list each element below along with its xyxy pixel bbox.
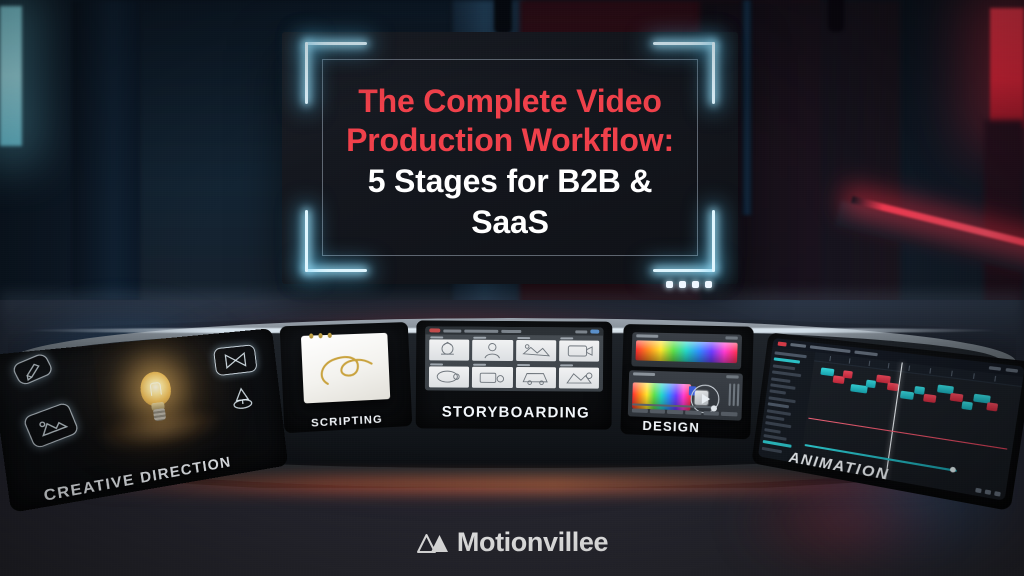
indicator-dot	[679, 281, 686, 288]
preview-card[interactable]	[628, 370, 743, 420]
stage-label-storyboarding: STORYBOARDING	[442, 403, 590, 421]
storyboard-frame[interactable]	[559, 364, 599, 388]
storyboard-app	[425, 326, 603, 391]
keyframe-block[interactable]	[865, 380, 876, 389]
left-light-panel	[0, 6, 22, 146]
title-line-2: Production Workflow:	[336, 121, 684, 160]
keyframe-block[interactable]	[900, 391, 913, 400]
indicator-dot	[666, 281, 673, 288]
keyframe-block[interactable]	[843, 370, 854, 379]
motionvillee-mark-icon	[416, 531, 450, 555]
slider-group[interactable]	[728, 383, 739, 406]
storyboard-grid	[429, 336, 599, 388]
storyboard-frame[interactable]	[472, 364, 512, 388]
notepad-rings	[309, 333, 332, 339]
title-line-3: 5 Stages for B2B &	[336, 162, 684, 201]
notepad	[301, 333, 390, 404]
storyboard-frame[interactable]	[472, 337, 512, 361]
script-squiggle-icon	[307, 341, 385, 397]
tool-row[interactable]	[632, 407, 738, 417]
keyframe-block[interactable]	[923, 394, 937, 403]
keyframe-block[interactable]	[820, 367, 834, 376]
storyboard-frame[interactable]	[429, 336, 469, 360]
right-wall-slot	[828, 0, 844, 32]
indicator-dot	[692, 281, 699, 288]
cone-badge-icon	[223, 381, 260, 420]
brand-logo: Motionvillee	[0, 527, 1024, 558]
stage-label-design: DESIGN	[642, 418, 700, 435]
cyan-track-knob[interactable]	[950, 467, 957, 473]
title-line-4: SaaS	[336, 203, 684, 242]
scene-root: The Complete Video Production Workflow: …	[0, 0, 1024, 576]
storyboard-frame[interactable]	[516, 337, 556, 361]
title-line-1: The Complete Video	[336, 82, 684, 121]
storyboard-frame[interactable]	[429, 363, 469, 387]
stage-panel-storyboarding[interactable]: STORYBOARDING	[416, 320, 613, 429]
curved-display: CREATIVE DIRECTION SCRIPTING	[8, 318, 1016, 488]
keyframe-block[interactable]	[961, 401, 973, 410]
color-picker-card[interactable]	[631, 332, 742, 369]
panel-indicator-dots	[666, 281, 712, 288]
brand-wordmark: Motionvillee	[457, 527, 608, 558]
stage-panel-scripting[interactable]: SCRIPTING	[280, 322, 413, 433]
pink-track-line[interactable]	[808, 417, 1007, 450]
right-pillar	[742, 0, 752, 215]
storyboard-frame[interactable]	[515, 364, 555, 388]
left-column	[72, 0, 142, 300]
title-panel: The Complete Video Production Workflow: …	[282, 32, 738, 284]
indicator-dot	[705, 281, 712, 288]
far-right-shadow	[984, 120, 1024, 320]
storyboard-toolbar	[425, 326, 603, 335]
keyframe-block[interactable]	[949, 393, 963, 402]
storyboard-frame[interactable]	[559, 337, 599, 361]
lightbulb-icon	[135, 370, 178, 423]
center-pillar-slot	[494, 0, 512, 34]
rainbow-gradient-swatch[interactable]	[635, 340, 737, 363]
play-icon	[702, 394, 711, 404]
bowtie-badge-icon	[213, 344, 258, 376]
right-red-light-panel	[990, 8, 1024, 128]
playback-controls[interactable]	[975, 488, 1001, 497]
keyframe-block[interactable]	[986, 402, 998, 411]
stage-panel-design[interactable]: DESIGN	[620, 324, 754, 440]
title-text-block: The Complete Video Production Workflow: …	[336, 82, 684, 242]
